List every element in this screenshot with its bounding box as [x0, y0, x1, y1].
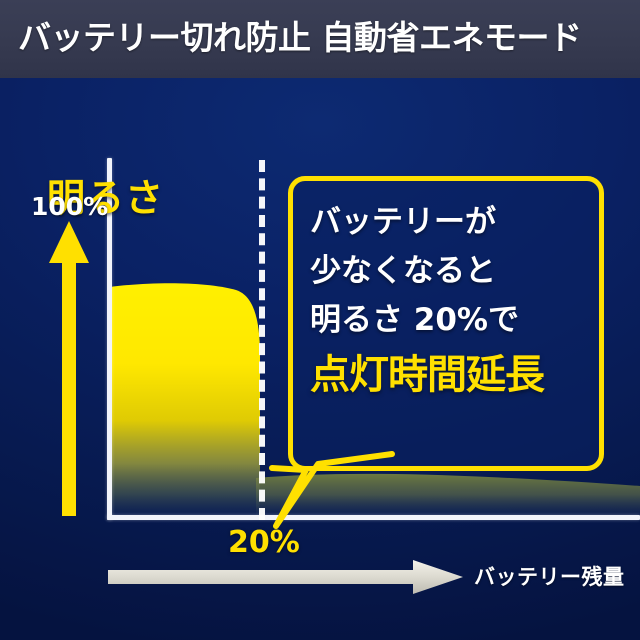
page-title: バッテリー切れ防止 自動省エネモード [18, 16, 626, 60]
threshold-dashed-line [259, 160, 265, 520]
callout-line-3: 明るさ 20%で [310, 296, 590, 345]
curve-plateau-segment [110, 283, 260, 520]
header-band: バッテリー切れ防止 自動省エネモード [0, 0, 640, 78]
chart-body: 明るさ 100% 20% バッテリー残量 [0, 78, 640, 640]
callout-text: バッテリーが 少なくなると 明るさ 20%で 点灯時間延長 [310, 198, 590, 403]
callout-line-1: バッテリーが [310, 198, 590, 247]
x-axis-caption: バッテリー残量 [474, 564, 625, 590]
infographic-canvas: バッテリー切れ防止 自動省エネモード [0, 0, 640, 640]
callout-bubble: バッテリーが 少なくなると 明るさ 20%で 点灯時間延長 [288, 176, 604, 471]
callout-highlight: 点灯時間延長 [310, 347, 590, 403]
y-axis-tick-100: 100% [31, 193, 108, 221]
battery-remaining-arrow [108, 559, 463, 595]
brightness-up-arrow [47, 219, 91, 516]
callout-line-2: 少なくなると [310, 247, 590, 296]
callout-bubble-tail [266, 448, 396, 540]
